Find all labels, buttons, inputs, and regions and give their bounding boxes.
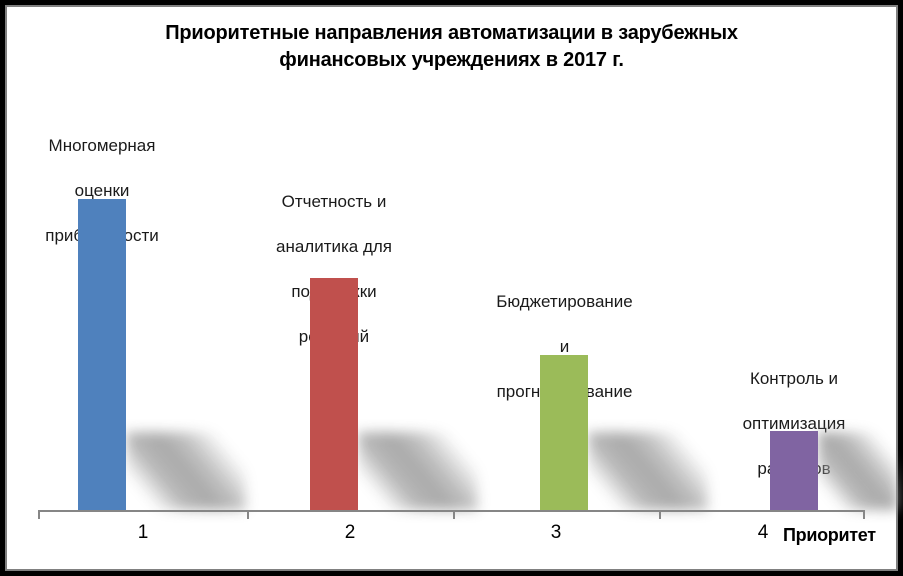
x-axis-label-2: 2 bbox=[320, 522, 380, 544]
x-axis-tick-0 bbox=[38, 511, 40, 519]
bar-1[interactable] bbox=[78, 199, 126, 510]
chart-title: Приоритетные направления автоматизации в… bbox=[100, 20, 803, 74]
bar-4[interactable] bbox=[770, 431, 818, 510]
bar-label-4-line-1: Контроль и bbox=[718, 368, 870, 391]
x-axis-line bbox=[38, 510, 865, 512]
x-axis-tick-4 bbox=[863, 511, 865, 519]
x-axis-tick-1 bbox=[247, 511, 249, 519]
bar-2[interactable] bbox=[310, 278, 358, 510]
chart-plot-area: Приоритетные направления автоматизации в… bbox=[0, 0, 903, 576]
bar-label-1-line-1: Многомерная bbox=[18, 135, 186, 158]
chart-title-line-1: Приоритетные направления автоматизации в… bbox=[100, 20, 803, 47]
chart-title-line-2: финансовых учреждениях в 2017 г. bbox=[100, 47, 803, 74]
bar-shadow-artifact-1 bbox=[126, 432, 246, 510]
x-axis-label-3: 3 bbox=[526, 522, 586, 544]
x-axis-tick-3 bbox=[659, 511, 661, 519]
x-axis-tick-2 bbox=[453, 511, 455, 519]
bar-3[interactable] bbox=[540, 355, 588, 510]
x-axis-label-1: 1 bbox=[113, 522, 173, 544]
bar-shadow-artifact-2 bbox=[358, 432, 478, 510]
bar-shadow-artifact-3 bbox=[588, 432, 708, 510]
bar-label-2-line-2: аналитика для bbox=[252, 236, 416, 259]
chart-frame: Приоритетные направления автоматизации в… bbox=[0, 0, 903, 576]
bar-label-3-line-1: Бюджетирование bbox=[472, 291, 657, 314]
bar-label-2-line-1: Отчетность и bbox=[252, 191, 416, 214]
x-axis-title: Приоритет bbox=[783, 525, 876, 546]
